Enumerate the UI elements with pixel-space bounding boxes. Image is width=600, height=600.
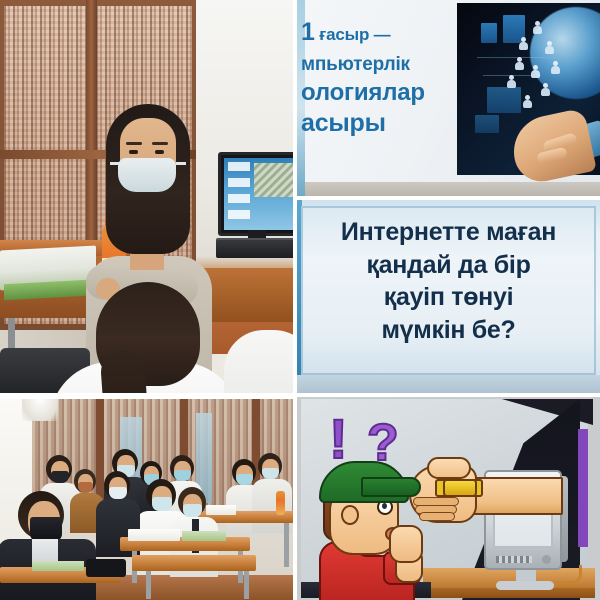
teacher-eye [155,150,164,154]
question-line-3: қауіп төнуі [309,281,588,314]
question-line-2: қандай да бір [309,249,588,282]
worksheet [128,529,180,541]
desk-leg [244,571,249,599]
person-icon [519,37,528,50]
person-icon [545,41,554,54]
slide-title: 1 ғасыр — мпьютерлік ологиялар асыры [301,18,479,139]
panel-presentation-slide-title: 1 ғасыр — мпьютерлік ологиялар асыры [297,0,600,196]
thumb [427,457,471,479]
slide-title-line-2: мпьютерлік [301,54,479,76]
desktop-window [254,163,293,197]
desk-leg [284,523,289,567]
panel-teacher-classroom [0,0,293,393]
panel-internet-safety-cartoon: ! ? [297,397,600,600]
wall-below-screen [297,375,600,393]
keyboard [216,238,293,258]
panel-students-classroom [0,399,293,600]
worksheet [206,505,236,515]
face-mask [183,504,202,517]
monitor-buttons [496,556,532,563]
finger [419,512,455,521]
purple-edge-strip [578,429,588,547]
person-icon [515,57,524,70]
monitor-screen [224,158,293,230]
slide-title-line-3: ологиялар [301,79,479,107]
exclamation-mark-icon: ! [329,415,348,463]
ceiling-lamp [22,399,58,421]
desk-leg [146,571,151,599]
worksheet-green [32,561,84,571]
teacher-eye [129,150,138,154]
face-mask [174,470,191,481]
juice-bottle [276,491,285,515]
candy [443,479,477,497]
network-tile [487,87,521,113]
pencil-case [86,559,126,577]
person-icon [551,61,560,74]
face-mask [30,517,62,541]
face-mask [262,468,279,479]
face-mask [152,497,172,511]
cap-brim [361,477,421,497]
person-icon [523,95,532,108]
slide-title-line-4: асыры [301,109,479,139]
teacher-eyebrow [126,142,142,145]
network-tile [481,23,497,43]
screen-lower-border [305,182,600,196]
boy-pupil [382,503,387,509]
teacher-face-mask [118,158,176,192]
network-tile [475,115,499,133]
boy-hand [389,525,423,563]
computer-monitor [218,152,293,236]
slide-network-image [457,3,600,175]
person-icon [533,21,542,34]
teacher-eyebrow [152,142,168,145]
power-button-icon[interactable] [542,555,551,564]
network-link [477,57,547,58]
desktop-icons [228,162,250,224]
face-mask [236,474,253,485]
question-line-4: мүмкін бе? [309,314,588,347]
projection-screen: Интернетте маған қандай да бір қауіп төн… [301,206,596,375]
monitor-foot [496,581,554,590]
person-icon [507,75,516,88]
projection-screen: 1 ғасыр — мпьютерлік ологиялар асыры [305,0,600,182]
person-icon [531,65,540,78]
face-mask [51,471,69,483]
slide-title-line-1: 1 ғасыр — [301,18,479,48]
panel-presentation-slide-question: Интернетте маған қандай да бір қауіп төн… [297,200,600,393]
projection-screen: ! ? [301,399,588,598]
worksheet-green [182,531,226,541]
question-mark-icon: ? [367,421,399,465]
desk [132,555,256,571]
photo-collage: 1 ғасыр — мпьютерлік ологиялар асыры [0,0,600,600]
question-line-1: Интернетте маған [309,216,588,249]
slide-question-text: Интернетте маған қандай да бір қауіп төн… [309,216,588,346]
face-mask [109,487,127,499]
mask-strap [176,162,186,165]
person-icon [541,83,550,96]
boy-ear [341,505,359,525]
